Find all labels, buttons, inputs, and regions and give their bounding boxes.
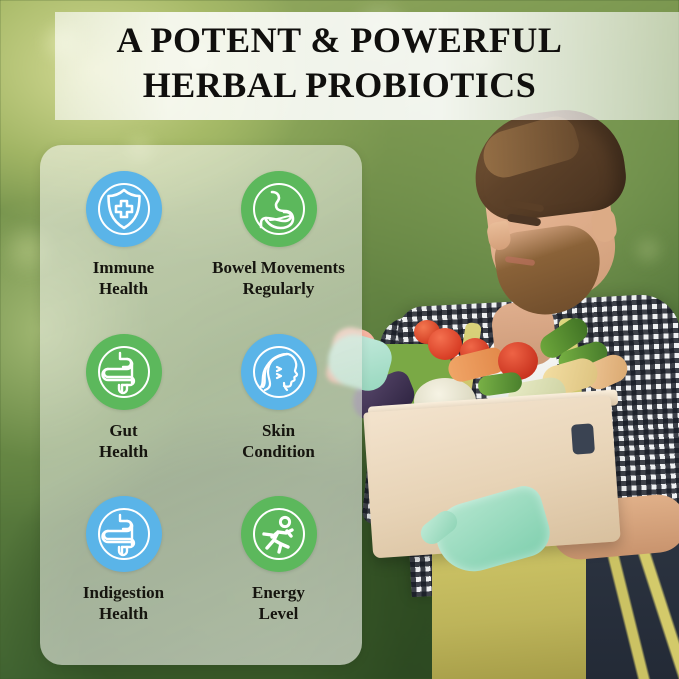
benefit-label: Gut Health	[99, 420, 148, 462]
crate-handle	[571, 423, 595, 454]
apron-tie-straps	[596, 548, 679, 679]
benefit-label: Bowel Movements Regularly	[212, 257, 345, 299]
benefit-label: Skin Condition	[242, 420, 315, 462]
stomach-icon	[251, 181, 307, 237]
benefit-bowel-movements-regularly: Bowel Movements Regularly	[201, 163, 356, 326]
benefit-energy-level: Energy Level	[201, 488, 356, 651]
benefits-panel: Immune Health Bowel Movements Regula	[40, 145, 362, 665]
benefit-skin-condition: Skin Condition	[201, 326, 356, 489]
intestines-icon	[96, 344, 152, 400]
title-line-1: A POTENT & POWERFUL	[0, 18, 679, 63]
badge-energy-level	[241, 496, 317, 572]
benefits-grid: Immune Health Bowel Movements Regula	[40, 145, 362, 665]
benefit-label: Energy Level	[252, 582, 305, 624]
intestines-icon	[96, 506, 152, 562]
benefit-label: Indigestion Health	[83, 582, 164, 624]
benefit-immune-health: Immune Health	[46, 163, 201, 326]
badge-skin-condition	[241, 334, 317, 410]
badge-bowel-movements	[241, 171, 317, 247]
badge-gut-health	[86, 334, 162, 410]
benefit-label: Immune Health	[93, 257, 154, 299]
face-profile-icon	[251, 344, 307, 400]
title-line-2: HERBAL PROBIOTICS	[0, 63, 679, 108]
benefit-indigestion-health: Indigestion Health	[46, 488, 201, 651]
badge-immune-health	[86, 171, 162, 247]
badge-indigestion-health	[86, 496, 162, 572]
page-title: A POTENT & POWERFUL HERBAL PROBIOTICS	[0, 18, 679, 108]
shield-cross-icon	[96, 181, 152, 237]
running-person-icon	[251, 506, 307, 562]
benefit-gut-health: Gut Health	[46, 326, 201, 489]
product-infographic: A POTENT & POWERFUL HERBAL PROBIOTICS Im…	[0, 0, 679, 679]
